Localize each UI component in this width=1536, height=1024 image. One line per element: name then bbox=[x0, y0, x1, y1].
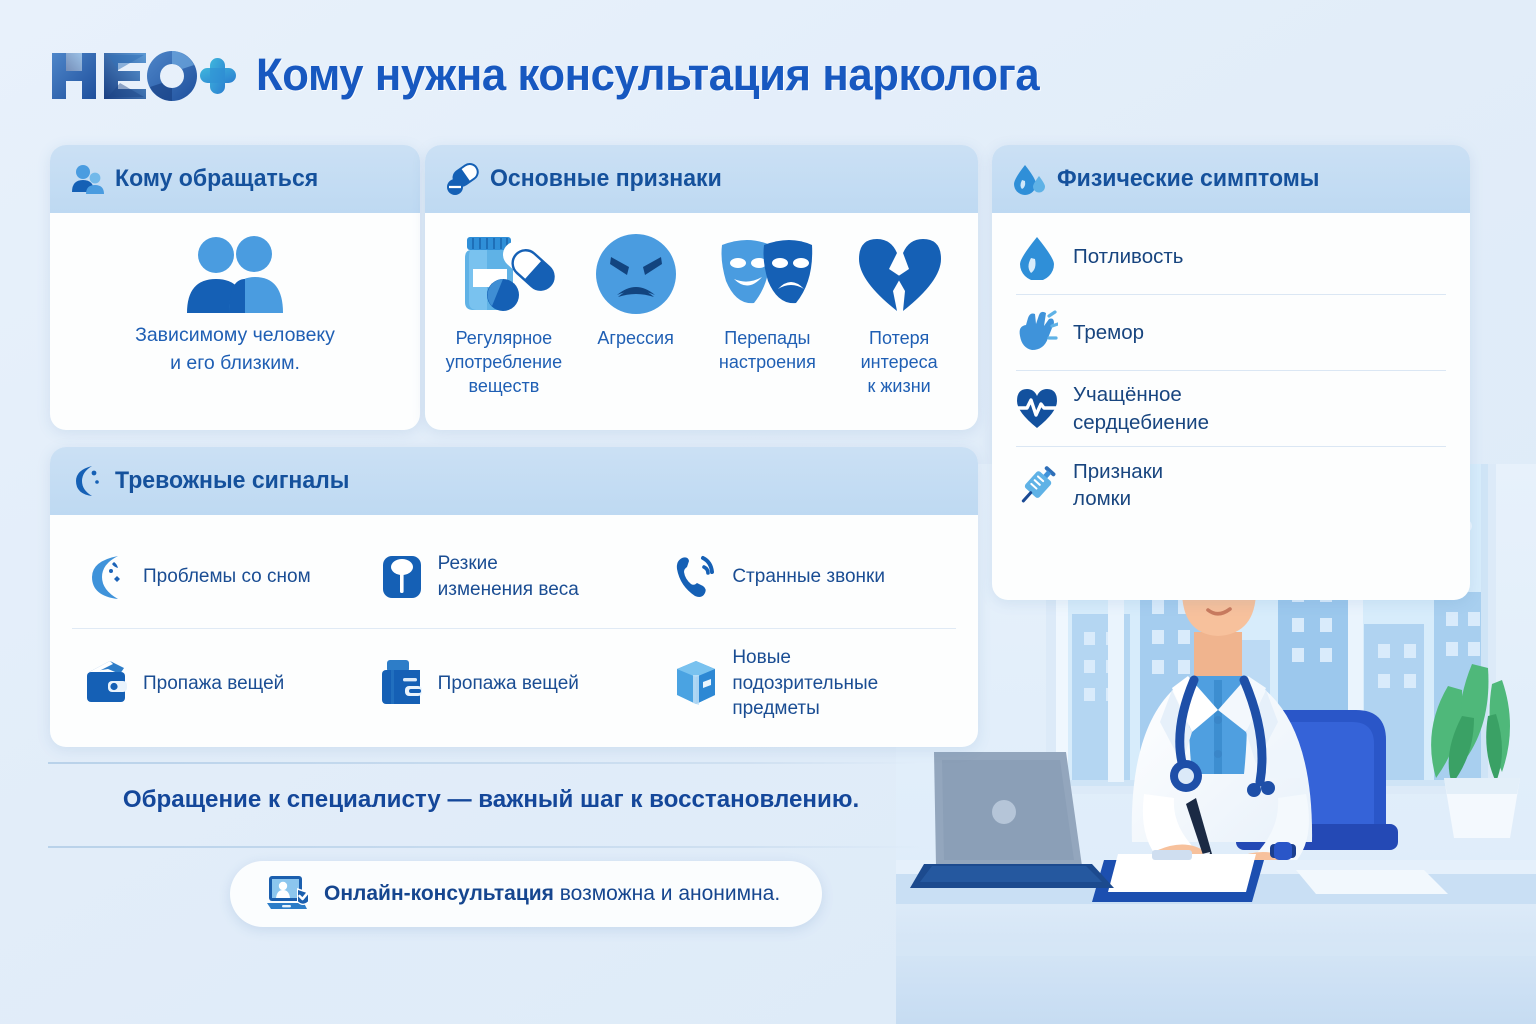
droplet-icon bbox=[1016, 234, 1058, 280]
card-signs-header: Основные признаки bbox=[425, 145, 978, 213]
sign-label-line: употребление bbox=[439, 351, 569, 375]
card-who-body: Зависимому человеку и его близким. bbox=[50, 213, 420, 378]
wallet-closed-icon bbox=[379, 658, 425, 708]
alarm-label-line: Странные звонки bbox=[732, 564, 885, 590]
alarm-label-line: Новые bbox=[732, 645, 878, 671]
symptom-label: Учащённое сердцебиение bbox=[1073, 381, 1209, 435]
card-who-text-line2: и его близким. bbox=[50, 349, 420, 377]
alarm-label: Проблемы со сном bbox=[143, 564, 311, 590]
moon-stars-icon bbox=[84, 552, 130, 602]
symptom-label: Признаки ломки bbox=[1073, 458, 1163, 512]
pill-bottle-icon bbox=[451, 231, 557, 317]
sign-label-line: Регулярное bbox=[439, 327, 569, 351]
alarm-label: Пропажа вещей bbox=[143, 671, 284, 697]
water-drops-icon bbox=[1012, 162, 1046, 196]
sign-label-line: к жизни bbox=[834, 375, 964, 399]
banner-divider-bottom bbox=[48, 846, 920, 848]
moon-icon bbox=[70, 464, 104, 498]
sign-item: Регулярное употребление веществ bbox=[439, 231, 569, 399]
sign-label: Потеря интереса к жизни bbox=[834, 327, 964, 399]
sign-label-line: настроения bbox=[703, 351, 833, 375]
pill-text-strong: Онлайн-консультация bbox=[324, 882, 554, 905]
closing-banner: Обращение к специалисту — важный шаг к в… bbox=[48, 762, 920, 846]
theatre-masks-icon bbox=[714, 231, 820, 317]
alarm-label: Пропажа вещей bbox=[438, 671, 579, 697]
sign-label-line: Перепады bbox=[703, 327, 833, 351]
alarm-label: Новые подозрительные предметы bbox=[732, 645, 878, 722]
symptom-label-line: Признаки bbox=[1073, 458, 1163, 485]
people-icon bbox=[70, 162, 104, 196]
sign-label: Перепады настроения bbox=[703, 327, 833, 375]
neo-plus-logo-icon bbox=[48, 45, 238, 105]
alarm-label-line: предметы bbox=[732, 696, 878, 722]
alarm-item: Новые подозрительные предметы bbox=[661, 629, 956, 738]
online-consult-icon bbox=[266, 874, 310, 914]
syringe-icon bbox=[1016, 462, 1058, 508]
card-who-text: Зависимому человеку и его близким. bbox=[50, 321, 420, 378]
card-alarms-title: Тревожные сигналы bbox=[115, 467, 349, 495]
symptom-row: Тремор bbox=[1016, 295, 1446, 371]
sign-label-line: веществ bbox=[439, 375, 569, 399]
symptom-label-line: Потливость bbox=[1073, 243, 1183, 270]
alarm-label: Резкие изменения веса bbox=[438, 551, 579, 602]
card-physical-symptoms: Физические симптомы Потливость bbox=[992, 145, 1470, 600]
card-alarms-body: Проблемы со сном Резкие изменения веса bbox=[50, 515, 978, 738]
broken-heart-icon bbox=[853, 231, 945, 317]
sign-label-line: Агрессия bbox=[571, 327, 701, 351]
package-box-icon bbox=[673, 658, 719, 708]
card-alarm-signals: Тревожные сигналы Проблемы со сном bbox=[50, 447, 978, 747]
weight-scale-icon bbox=[379, 552, 425, 602]
symptom-label-line: ломки bbox=[1073, 485, 1163, 512]
card-who-header: Кому обращаться bbox=[50, 145, 420, 213]
card-who-text-line1: Зависимому человеку bbox=[50, 321, 420, 349]
sign-item: Потеря интереса к жизни bbox=[834, 231, 964, 399]
alarm-label-line: Пропажа вещей bbox=[143, 671, 284, 697]
alarm-label: Странные звонки bbox=[732, 564, 885, 590]
alarm-label-line: Пропажа вещей bbox=[438, 671, 579, 697]
online-consultation-text: Онлайн-консультация возможна и анонимна. bbox=[324, 882, 780, 906]
symptom-row: Признаки ломки bbox=[1016, 447, 1446, 523]
symptom-label-line: Учащённое bbox=[1073, 381, 1209, 408]
sign-item: Перепады настроения bbox=[703, 231, 833, 399]
page-header: Кому нужна консультация нарколога bbox=[48, 34, 1064, 116]
symptom-row: Потливость bbox=[1016, 219, 1446, 295]
symptom-label: Потливость bbox=[1073, 243, 1183, 270]
wallet-icon bbox=[84, 658, 130, 708]
heartbeat-icon bbox=[1016, 386, 1058, 432]
pill-text-rest: возможна и анонимна. bbox=[554, 882, 780, 905]
card-physical-body: Потливость Тремор bbox=[992, 213, 1470, 523]
alarm-item: Резкие изменения веса bbox=[367, 525, 662, 629]
alarm-label-line: Проблемы со сном bbox=[143, 564, 311, 590]
symptom-label-line: сердцебиение bbox=[1073, 409, 1209, 436]
angry-face-icon bbox=[593, 231, 679, 317]
sign-label: Агрессия bbox=[571, 327, 701, 351]
sign-item: Агрессия bbox=[571, 231, 701, 399]
banner-text: Обращение к специалисту — важный шаг к в… bbox=[48, 764, 907, 814]
alarm-item: Странные звонки bbox=[661, 525, 956, 629]
page-title: Кому нужна консультация нарколога bbox=[256, 49, 1039, 101]
card-physical-title: Физические симптомы bbox=[1057, 165, 1319, 193]
shaking-hand-icon bbox=[1016, 310, 1058, 356]
symptom-label-line: Тремор bbox=[1073, 319, 1144, 346]
infographic-canvas: Кому нужна консультация нарколога Кому о… bbox=[0, 0, 1536, 1024]
online-consultation-pill[interactable]: Онлайн-консультация возможна и анонимна. bbox=[230, 861, 822, 927]
alarm-label-line: изменения веса bbox=[438, 577, 579, 603]
card-physical-header: Физические симптомы bbox=[992, 145, 1470, 213]
sign-label-line: интереса bbox=[834, 351, 964, 375]
phone-ringing-icon bbox=[673, 552, 719, 602]
two-people-icon bbox=[167, 235, 303, 313]
alarm-label-line: подозрительные bbox=[732, 671, 878, 697]
sign-label-line: Потеря bbox=[834, 327, 964, 351]
alarm-item: Пропажа вещей bbox=[72, 629, 367, 738]
pills-icon bbox=[445, 162, 479, 196]
symptom-row: Учащённое сердцебиение bbox=[1016, 371, 1446, 447]
card-signs-title: Основные признаки bbox=[490, 165, 722, 193]
alarm-label-line: Резкие bbox=[438, 551, 579, 577]
card-who-title: Кому обращаться bbox=[115, 165, 318, 193]
sign-label: Регулярное употребление веществ bbox=[439, 327, 569, 399]
symptom-label: Тремор bbox=[1073, 319, 1144, 346]
alarm-item: Проблемы со сном bbox=[72, 525, 367, 629]
card-signs-body: Регулярное употребление веществ Агрессия bbox=[425, 213, 978, 399]
alarm-item: Пропажа вещей bbox=[367, 629, 662, 738]
card-who-to-contact: Кому обращаться Зависимому человеку и ег… bbox=[50, 145, 420, 430]
card-alarms-header: Тревожные сигналы bbox=[50, 447, 978, 515]
card-main-signs: Основные признаки bbox=[425, 145, 978, 430]
